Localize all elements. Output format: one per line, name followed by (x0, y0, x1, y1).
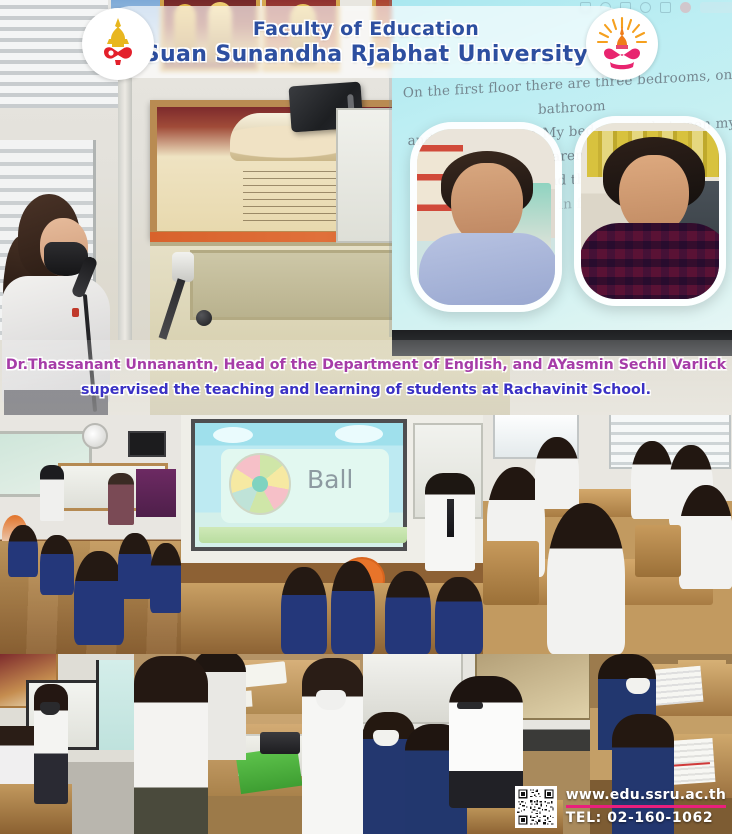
student-face-mask (626, 678, 650, 694)
ssru-crown-emblem-icon (82, 8, 154, 80)
header-title-block: Faculty of Education Suan Sunandha Rjabh… (96, 6, 636, 78)
wall-fan-icon (82, 423, 108, 449)
cloud-shape (213, 427, 253, 443)
contact-block: www.edu.ssru.ac.th TEL: 02-160-1062 (566, 787, 726, 827)
grass-strip (199, 527, 407, 543)
footer-contact: www.edu.ssru.ac.th TEL: 02-160-1062 (515, 786, 726, 828)
toolbar-icon-text (660, 2, 671, 13)
telephone-number: TEL: 02-160-1062 (566, 810, 726, 827)
cloud-shape (335, 425, 383, 443)
chair-back (635, 525, 681, 577)
mic-stand-head (172, 252, 194, 282)
student-figure (631, 441, 673, 519)
students-seated-at-desks-photo (483, 415, 732, 654)
student-figure (40, 535, 74, 595)
page-title-line-1: Faculty of Education (253, 17, 479, 41)
student-figure (535, 437, 579, 509)
projection-screen: Ball (191, 419, 407, 551)
video-tile-male-shirt (419, 233, 559, 312)
student-figure (281, 567, 327, 654)
student-figure (74, 551, 124, 645)
student-figure (547, 503, 625, 654)
university-sunburst-seal-icon (586, 8, 658, 80)
student-figure (679, 485, 732, 589)
presenter-badge (72, 308, 79, 317)
student-face-mask (316, 690, 346, 710)
teacher-face-mask (40, 702, 60, 715)
teacher-with-microphone-photo (0, 654, 134, 834)
contact-divider (566, 805, 726, 808)
website-url[interactable]: www.edu.ssru.ac.th (566, 787, 726, 804)
electronic-device (260, 732, 300, 754)
purple-wall-chart (136, 469, 176, 517)
student-figure (8, 525, 38, 577)
student-figure (385, 571, 431, 654)
header-banner: Faculty of Education Suan Sunandha Rjabh… (96, 6, 636, 78)
student-figure (134, 656, 208, 834)
ball-vocabulary-slide-photo: Ball (181, 415, 483, 654)
page-title-line-2: Suan Sunandha Rjabhat University (144, 41, 589, 68)
toolbar-window-controls (700, 2, 732, 13)
student-face-mask (373, 730, 399, 746)
assistant-figure (108, 473, 134, 525)
presenter-necktie (447, 499, 454, 537)
teacher-figure (449, 676, 523, 808)
student-figure (150, 543, 181, 613)
student-figure (331, 561, 375, 654)
toolbar-icon-close (680, 2, 691, 13)
toolbar-icon-record (640, 2, 651, 13)
student-figure (302, 658, 363, 834)
classroom-wide-view-photo (0, 415, 181, 654)
slide-word-label: Ball (307, 465, 353, 494)
student-figure (435, 577, 483, 654)
video-tile-male (410, 122, 562, 312)
video-tile-female-shirt (579, 223, 726, 306)
teacher-figure (40, 465, 64, 521)
chair-back (483, 541, 539, 605)
qr-code-icon[interactable] (515, 786, 557, 828)
caption-band: Dr.Thassanant Unnanantn, Head of the Dep… (0, 340, 732, 415)
caption-line-2: supervised the teaching and learning of … (81, 382, 651, 398)
student-figure (118, 533, 152, 599)
wall-tv (128, 431, 166, 457)
caption-line-1: Dr.Thassanant Unnanantn, Head of the Dep… (6, 357, 726, 373)
projection-screen (96, 660, 134, 750)
video-tile-female (574, 116, 726, 306)
beach-ball-illustration (229, 453, 291, 515)
teacher-glasses (457, 702, 483, 709)
photo-grid-middle-row: Ball (0, 415, 732, 654)
mic-stand-joint (196, 310, 212, 326)
students-working-with-materials-photo (134, 654, 363, 834)
poster-root: On the first floor there are three bedro… (0, 0, 732, 834)
